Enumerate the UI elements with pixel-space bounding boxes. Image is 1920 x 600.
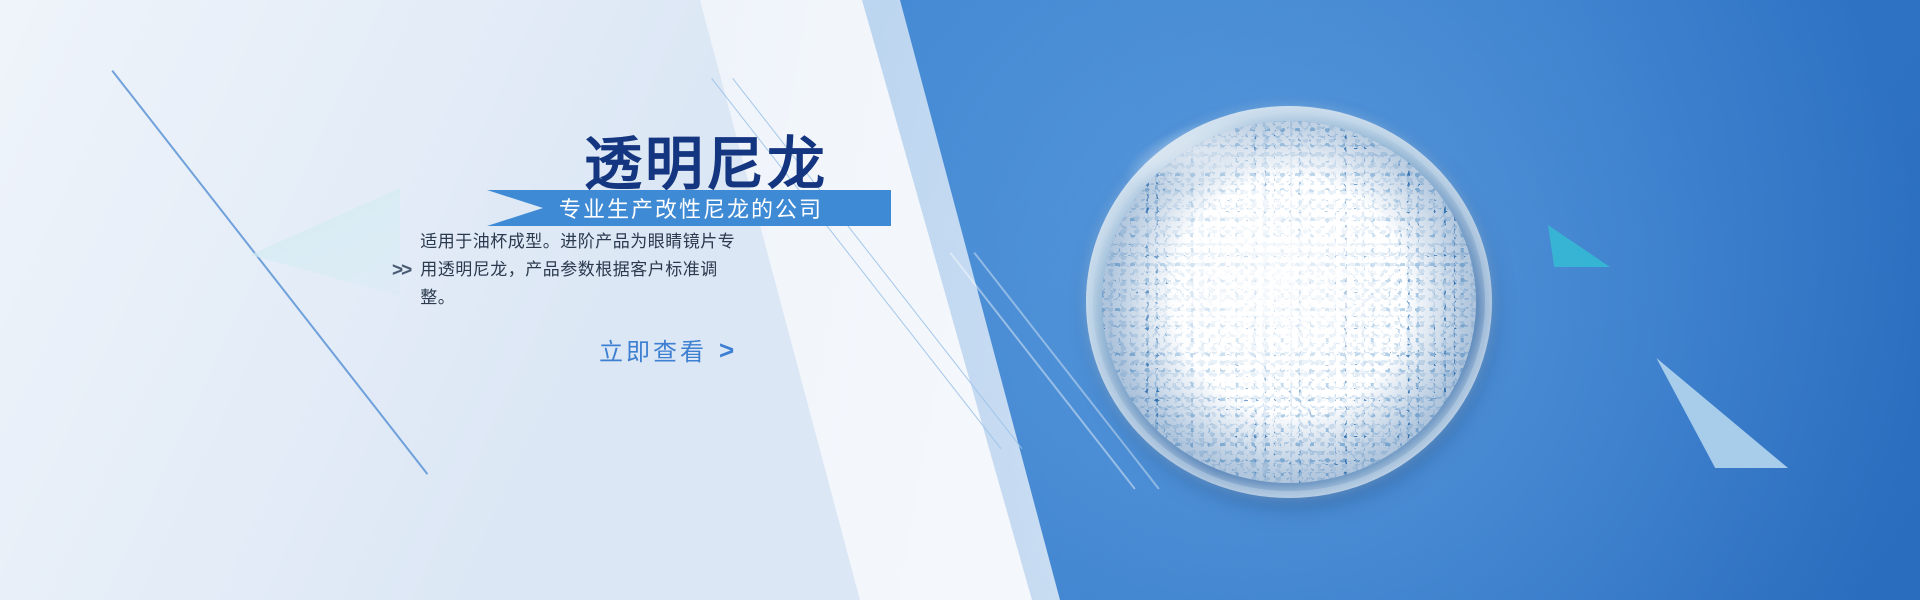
view-now-button[interactable]: 立即查看 > [599, 332, 737, 367]
banner-content: 透明尼龙 专业生产改性尼龙的公司 >> 适用于油杯成型。进阶产品为眼睛镜片专用透… [0, 0, 1000, 600]
view-now-label: 立即查看 [599, 332, 707, 367]
description-text: 适用于油杯成型。进阶产品为眼睛镜片专用透明尼龙，产品参数根据客户标准调整。 [420, 228, 750, 312]
description-block: >> 适用于油杯成型。进阶产品为眼睛镜片专用透明尼龙，产品参数根据客户标准调整。 [392, 228, 912, 312]
promo-banner: 透明尼龙 专业生产改性尼龙的公司 >> 适用于油杯成型。进阶产品为眼睛镜片专用透… [0, 0, 1920, 600]
tagline-text: 专业生产改性尼龙的公司 [559, 192, 823, 224]
tagline-ribbon: 专业生产改性尼龙的公司 [487, 190, 891, 226]
double-chevron-icon: >> [392, 261, 410, 280]
product-image-petri-dish [1086, 106, 1498, 506]
ribbon-chevron-icon [487, 190, 543, 226]
page-title: 透明尼龙 [584, 136, 828, 194]
chevron-right-icon: > [719, 337, 737, 363]
